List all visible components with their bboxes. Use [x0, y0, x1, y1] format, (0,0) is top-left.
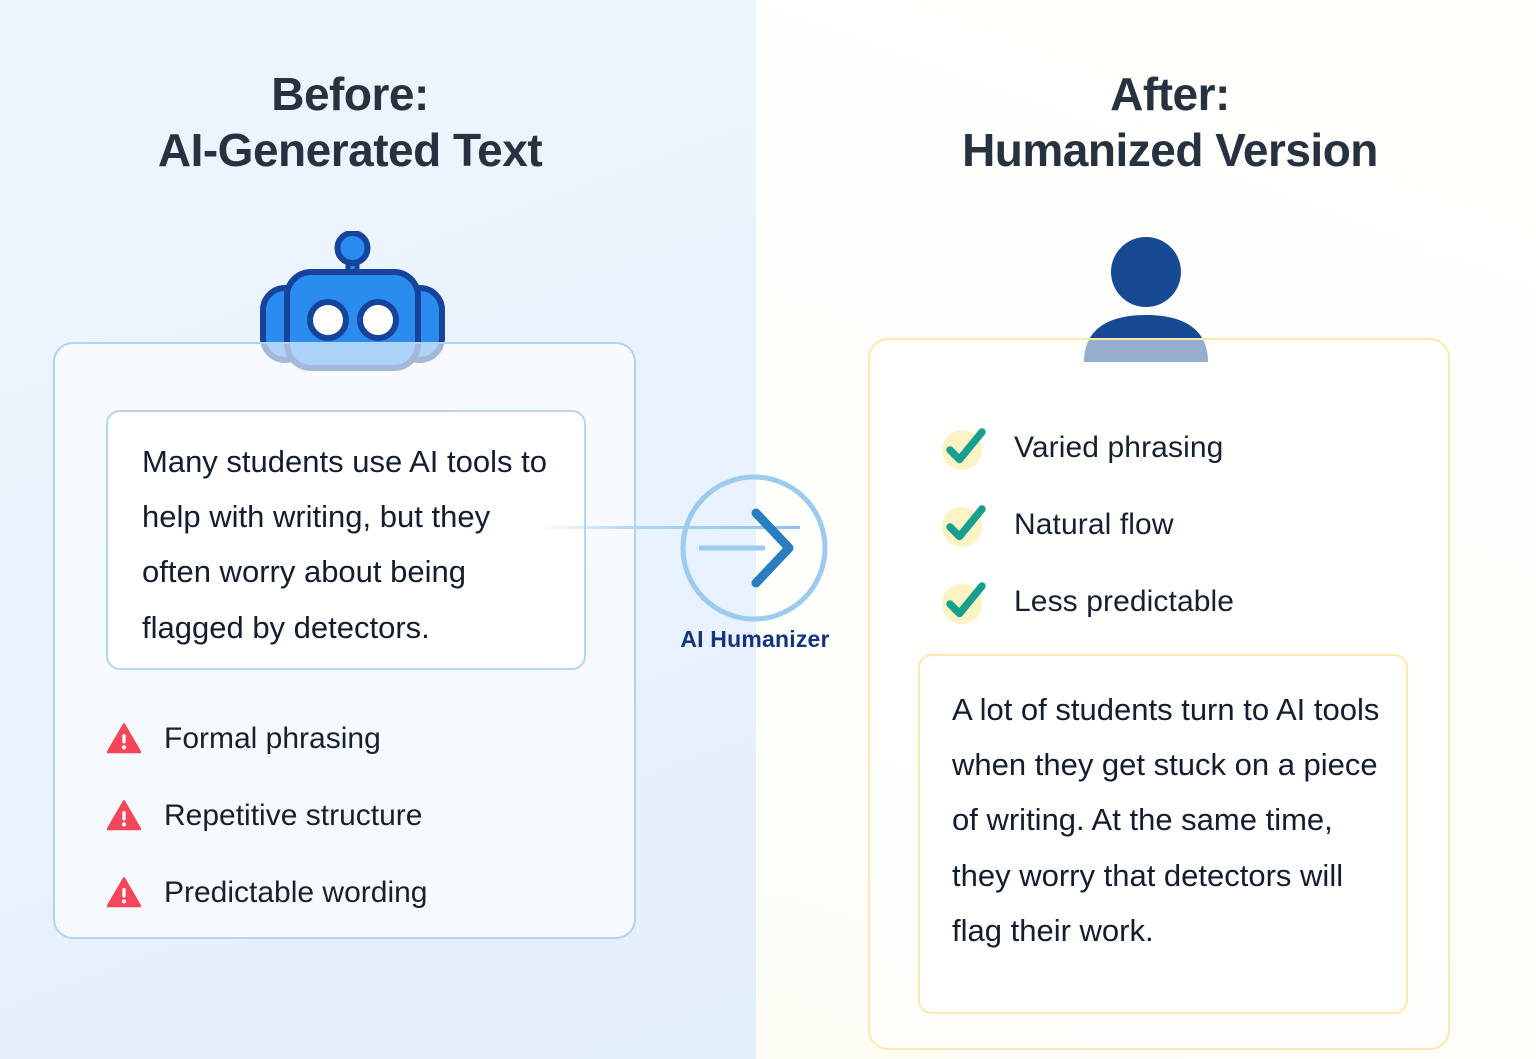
list-item: Formal phrasing	[107, 700, 577, 777]
check-circle-icon	[940, 579, 988, 625]
list-item-label: Repetitive structure	[164, 799, 422, 833]
list-item: Varied phrasing	[940, 409, 1410, 486]
ai-humanizer-label: AI Humanizer	[620, 626, 890, 653]
before-quote-text: Many students use AI tools to help with …	[106, 410, 586, 670]
after-quote-text: A lot of students turn to AI tools when …	[918, 654, 1408, 1014]
list-item-label: Predictable wording	[164, 876, 427, 910]
check-circle-icon	[940, 502, 988, 548]
before-bullet-list: Formal phrasing Repetitive structure Pre…	[107, 700, 577, 931]
warning-triangle-icon	[107, 723, 141, 754]
right-panel-heading: After: Humanized Version	[860, 66, 1480, 178]
list-item-label: Varied phrasing	[1014, 431, 1223, 465]
warning-triangle-icon	[107, 800, 141, 831]
infographic-canvas: Before: AI-Generated Text Many students …	[0, 0, 1536, 1059]
list-item: Natural flow	[940, 486, 1410, 563]
list-item: Repetitive structure	[107, 777, 577, 854]
list-item-label: Formal phrasing	[164, 722, 381, 756]
list-item-label: Less predictable	[1014, 585, 1234, 619]
list-item: Predictable wording	[107, 854, 577, 931]
list-item: Less predictable	[940, 563, 1410, 640]
warning-triangle-icon	[107, 877, 141, 908]
check-circle-icon	[940, 425, 988, 471]
left-panel-heading: Before: AI-Generated Text	[40, 66, 660, 178]
arrow-right-circle-icon	[679, 473, 829, 623]
list-item-label: Natural flow	[1014, 508, 1174, 542]
after-bullet-list: Varied phrasing Natural flow Less predic…	[940, 409, 1410, 640]
